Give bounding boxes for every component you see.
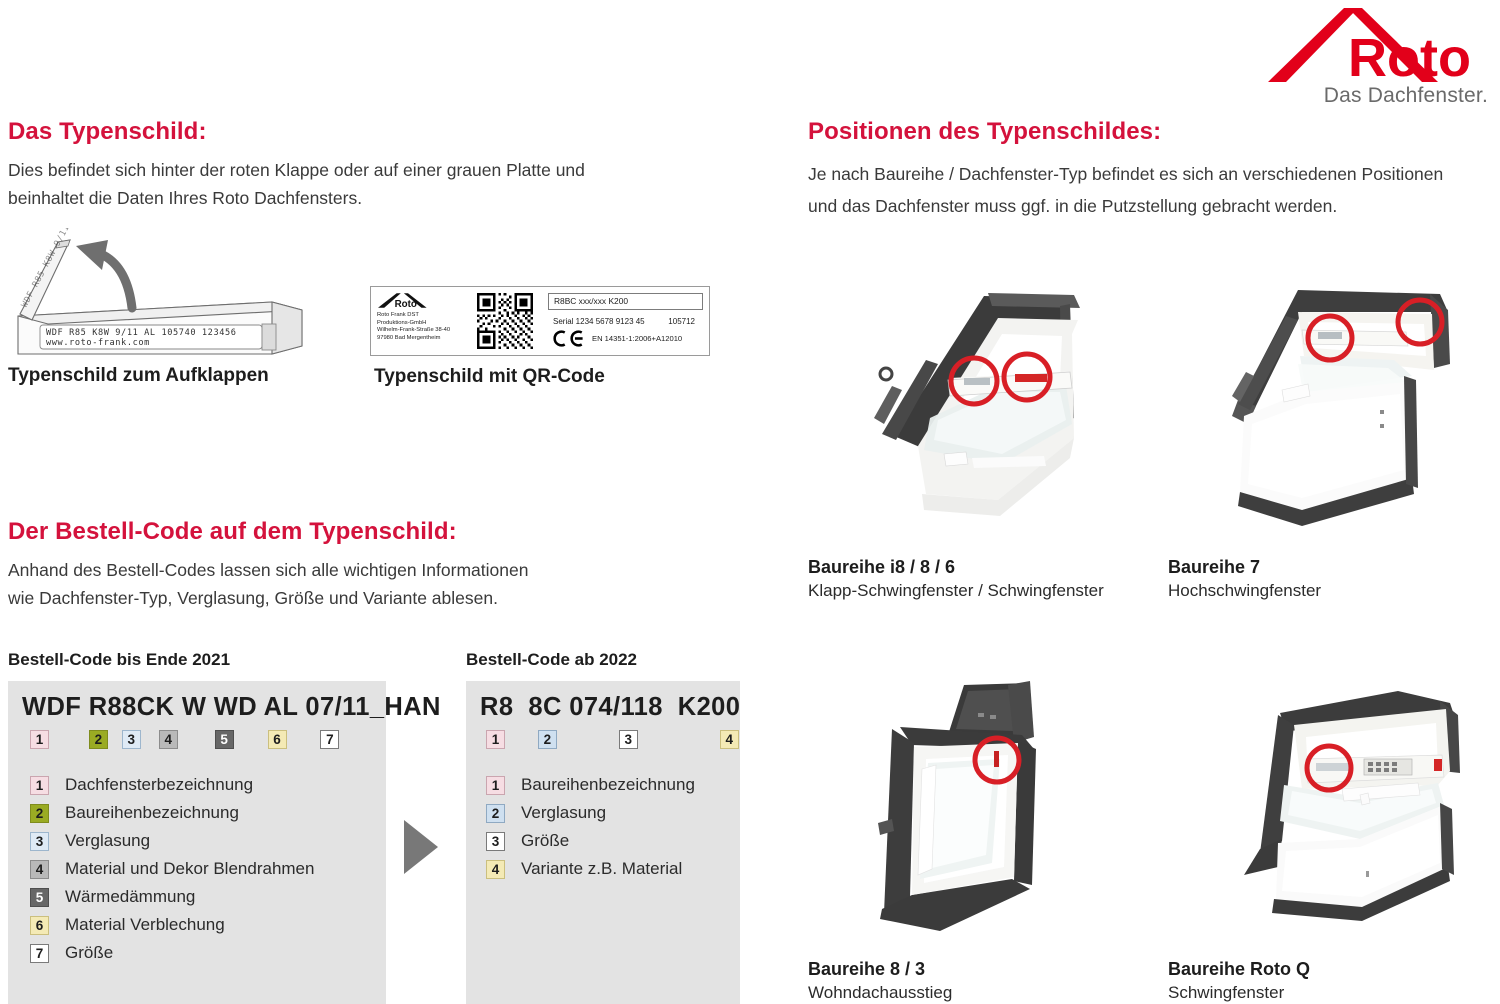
legend-item: 4 Material und Dekor Blendrahmen [30,859,314,879]
document-page: Roto Das Dachfenster. Das Typenschild: D… [0,0,1500,1004]
bestellcode-text-line1: Anhand des Bestell-Codes lassen sich all… [8,556,628,584]
code-new-marker-4: 4 [720,730,739,749]
code-new-title: Bestell-Code ab 2022 [466,650,637,670]
legend-badge-2: 2 [30,804,49,823]
code-old-marker-2: 2 [89,730,108,749]
qr-address-line-3: 97980 Bad Mergentheim [377,335,462,343]
section-typenschild: Das Typenschild: Dies befindet sich hint… [8,118,628,212]
roof-window-illustration-3 [822,663,1112,948]
legend-label-2: Baureihenbezeichnung [65,803,239,823]
photo-2-title: Baureihe 7 [1168,557,1260,578]
section-positionen: Positionen des Typenschildes: Je nach Ba… [808,118,1488,222]
positionen-heading: Positionen des Typenschildes: [808,118,1488,146]
bestellcode-heading: Der Bestell-Code auf dem Typenschild: [8,518,628,546]
code-old-marker-5: 5 [215,730,234,749]
typenschild-text-line1: Dies befindet sich hinter der roten Klap… [8,156,628,184]
photo-4-title: Baureihe Roto Q [1168,959,1310,980]
flap-illustration: WDF R85 K8W 9/11 AL 105740 123456 www.ro… [10,228,310,358]
code-old-title: Bestell-Code bis Ende 2021 [8,650,230,670]
section-bestellcode: Der Bestell-Code auf dem Typenschild: An… [8,518,628,612]
photo-baureihe-7 [1182,264,1472,539]
legend-item: 4 Variante z.B. Material [486,859,695,879]
code-old-code: WDF R88CK W WD AL 07/11_HAN [22,693,441,722]
positionen-text-line2: und das Dachfenster muss ggf. in die Put… [808,190,1488,222]
flap-caption: Typenschild zum Aufklappen [8,365,269,387]
code-new-markers: 1 2 3 4 [486,730,739,749]
bestellcode-text-line2: wie Dachfenster-Typ, Verglasung, Größe u… [8,584,628,612]
legend-label-7: Größe [65,943,113,963]
qr-code-block [466,287,544,355]
photo-baureihe-roto-q [1182,663,1482,948]
new-legend-badge-2: 2 [486,804,505,823]
photo-2-subtitle: Hochschwingfenster [1168,581,1321,601]
legend-label-5: Wärmedämmung [65,887,195,907]
code-old-marker-4: 4 [159,730,178,749]
roof-window-illustration-1 [822,268,1112,538]
new-legend-label-1: Baureihenbezeichnung [521,775,695,795]
flap-plate-line1: WDF R85 K8W 9/11 AL 105740 123456 [46,328,237,338]
bestellcode-text: Anhand des Bestell-Codes lassen sich all… [8,556,628,612]
qr-code-icon [477,293,533,349]
qr-label-serial: Serial 1234 5678 9123 45 [553,317,645,326]
legend-item: 3 Größe [486,831,695,851]
code-old-legend: 1 Dachfensterbezeichnung 2 Baureihenbeze… [30,775,314,971]
photo-1-subtitle: Klapp-Schwingfenster / Schwingfenster [808,581,1104,601]
legend-badge-1: 1 [30,776,49,795]
svg-text:WDF R85 K8W 9/11 AL: WDF R85 K8W 9/11 AL [20,228,80,309]
qr-label-brand-block: Roto Roto Frank DST Produktions-GmbH Wil… [371,287,466,355]
legend-label-6: Material Verblechung [65,915,225,935]
qr-label-data-block: R8BC xxx/xxx K200 Serial 1234 5678 9123 … [544,287,709,355]
code-old-marker-6: 6 [268,730,287,749]
code-old-marker-3: 3 [122,730,141,749]
legend-item: 3 Verglasung [30,831,314,851]
roto-small-logo-icon: Roto [377,292,439,310]
code-new-legend: 1 Baureihenbezeichnung 2 Verglasung 3 Gr… [486,775,695,887]
positionen-text-line1: Je nach Baureihe / Dachfenster-Typ befin… [808,158,1488,190]
qr-label-serial-row: Serial 1234 5678 9123 45 105712 [548,317,703,326]
roof-window-illustration-4 [1182,663,1482,948]
code-old-marker-7: 7 [320,730,339,749]
svg-text:Roto: Roto [1348,28,1471,88]
photo-4-subtitle: Schwingfenster [1168,983,1284,1003]
legend-item: 5 Wärmedämmung [30,887,314,907]
legend-badge-3: 3 [30,832,49,851]
typenschild-text-line2: beinhaltet die Daten Ihres Roto Dachfens… [8,184,628,212]
qr-label-ce-row: EN 14351-1:2006+A12010 [548,330,703,347]
legend-item: 1 Dachfensterbezeichnung [30,775,314,795]
legend-item: 2 Verglasung [486,803,695,823]
code-new-panel: R8 8C 074/118 K200 1 2 3 4 1 Baureihenbe… [466,681,740,1004]
typenschild-text: Dies befindet sich hinter der roten Klap… [8,156,628,212]
legend-item: 7 Größe [30,943,314,963]
positionen-text: Je nach Baureihe / Dachfenster-Typ befin… [808,158,1488,222]
code-new-marker-3: 3 [619,730,638,749]
qr-label-address: Roto Frank DST Produktions-GmbH Wilhelm-… [377,312,462,342]
photo-3-subtitle: Wohndachausstieg [808,983,952,1003]
svg-text:Roto: Roto [395,299,417,310]
arrow-right-icon [404,820,438,874]
legend-item: 2 Baureihenbezeichnung [30,803,314,823]
qr-label-norm: EN 14351-1:2006+A12010 [592,334,682,343]
qr-label-serial-number: 105712 [668,317,695,326]
new-legend-label-4: Variante z.B. Material [521,859,682,879]
photo-baureihe-8-3 [822,663,1112,948]
legend-badge-7: 7 [30,944,49,963]
qr-typenschild-label: Roto Roto Frank DST Produktions-GmbH Wil… [370,286,710,356]
legend-badge-4: 4 [30,860,49,879]
new-legend-badge-1: 1 [486,776,505,795]
typenschild-heading: Das Typenschild: [8,118,628,146]
qr-label-code: R8BC xxx/xxx K200 [548,293,703,310]
legend-label-4: Material und Dekor Blendrahmen [65,859,314,879]
new-legend-label-3: Größe [521,831,569,851]
legend-label-1: Dachfensterbezeichnung [65,775,253,795]
ce-mark-icon [551,330,587,347]
qr-label-caption: Typenschild mit QR-Code [374,366,605,388]
code-old-markers: 1 2 3 4 5 6 7 [30,730,339,749]
photo-1-title: Baureihe i8 / 8 / 6 [808,557,955,578]
legend-label-3: Verglasung [65,831,150,851]
new-legend-badge-4: 4 [486,860,505,879]
qr-address-line-0: Roto Frank DST [377,312,462,320]
typenschild-flap-icon: WDF R85 K8W 9/11 AL 105740 123456 www.ro… [10,228,310,358]
code-new-code: R8 8C 074/118 K200 [480,693,740,722]
code-new-marker-1: 1 [486,730,505,749]
qr-address-line-1: Produktions-GmbH [377,320,462,328]
flap-plate-line2: www.roto-frank.com [46,338,150,348]
qr-address-line-2: Wilhelm-Frank-Straße 38-40 [377,327,462,335]
code-new-marker-2: 2 [538,730,557,749]
legend-item: 1 Baureihenbezeichnung [486,775,695,795]
code-old-panel: WDF R88CK W WD AL 07/11_HAN 1 2 3 4 5 6 … [8,681,386,1004]
logo-tagline: Das Dachfenster. [1324,84,1488,108]
legend-badge-5: 5 [30,888,49,907]
photo-3-title: Baureihe 8 / 3 [808,959,925,980]
new-legend-label-2: Verglasung [521,803,606,823]
legend-badge-6: 6 [30,916,49,935]
photo-baureihe-i8-8-6 [822,268,1112,538]
roto-logo: Roto Das Dachfenster. [1262,4,1492,114]
code-old-marker-1: 1 [30,730,49,749]
roof-window-illustration-2 [1182,264,1472,539]
new-legend-badge-3: 3 [486,832,505,851]
legend-item: 6 Material Verblechung [30,915,314,935]
